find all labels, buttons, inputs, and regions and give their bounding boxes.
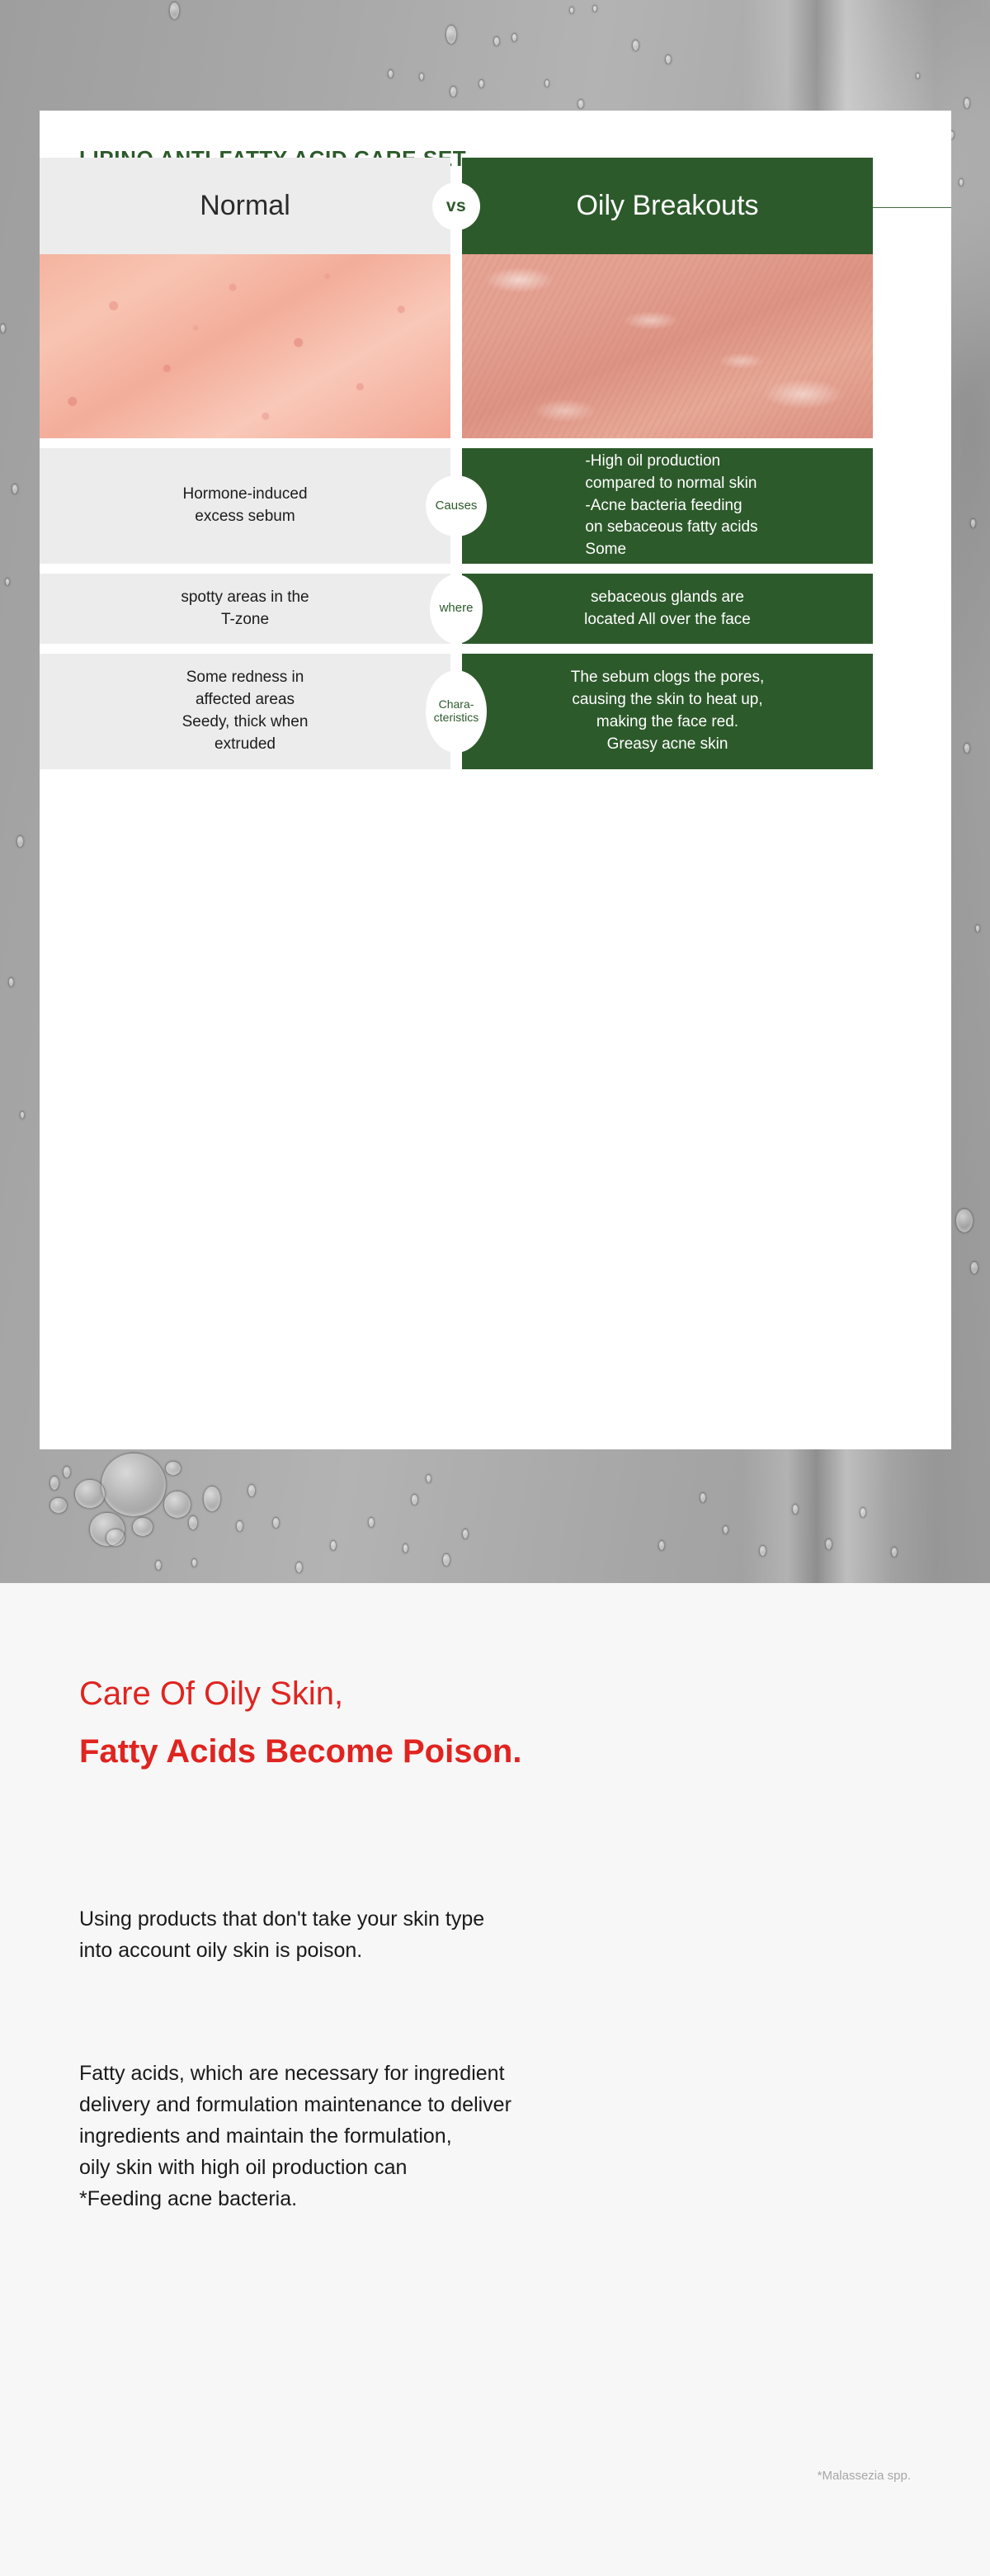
bubble-decor [132,1517,153,1537]
bubble-decor [592,5,597,12]
cell-text: spotty areas in the T-zone [163,587,327,631]
bubble-decor [16,835,24,848]
bubble-decor [20,1111,25,1119]
cell-text: The sebum clogs the pores, causing the s… [553,667,782,756]
bubble-decor [792,1504,799,1515]
bubble-decor [450,86,457,97]
bubble-decor [445,25,457,45]
bubble-decor [203,1486,221,1512]
bubble-decor [419,73,424,81]
cell-oily-characteristics: The sebum clogs the pores, causing the s… [462,654,873,769]
table-row: Some redness in affected areas Seedy, th… [40,654,873,769]
section-heading-line-2: Fatty Acids Become Poison. [79,1733,521,1770]
row-label-causes: Causes [426,475,487,536]
cell-text: sebaceous glands are located All over th… [566,587,769,631]
bubble-decor [723,1525,728,1534]
skin-photo-normal [40,254,450,438]
bubble-decor [247,1484,256,1497]
bubble-decor [101,1453,167,1517]
table-header-row: Normal Oily Breakouts vs [40,158,873,254]
bubble-decor [658,1540,665,1551]
body-paragraph-2: Fatty acids, which are necessary for ing… [79,2058,511,2214]
body-paragraph-1: Using products that don't take your skin… [79,1903,484,1966]
bubble-decor [163,1491,191,1519]
cell-text: Some redness in affected areas Seedy, th… [164,667,327,756]
bubble-decor [544,79,549,87]
skin-photo-oily [462,254,873,438]
footnote-text: *Malassezia spp. [818,2469,911,2483]
bubble-decor [959,178,964,187]
row-label-where: where [430,574,483,644]
bubble-decor [0,324,6,333]
product-detail-page: LIPINO ANTI-FATTY ACID CARE SET Normal O… [0,0,990,2576]
bubble-decor [891,1547,898,1557]
cell-normal-characteristics: Some redness in affected areas Seedy, th… [40,654,450,769]
cell-oily-where: sebaceous glands are located All over th… [462,574,873,644]
header-cell-oily: Oily Breakouts [462,158,873,254]
bubble-decor [955,1208,973,1233]
bubble-decor [964,97,970,109]
bubble-decor [569,7,574,14]
bubble-decor [191,1558,197,1567]
bubble-decor [106,1529,125,1547]
section-heading-line-1: Care Of Oily Skin, [79,1676,343,1713]
bubble-decor [860,1507,866,1518]
bubble-decor [411,1494,418,1505]
bubble-decor [272,1517,280,1529]
bubble-decor [964,743,970,754]
bubble-decor [462,1529,469,1539]
bubble-decor [665,54,672,64]
bubble-decor [759,1545,766,1557]
cell-oily-causes: -High oil production compared to normal … [462,448,873,564]
bubble-decor [63,1466,71,1478]
bubble-decor [368,1517,375,1528]
bubble-decor [493,36,500,46]
vs-badge: vs [432,182,480,230]
bubble-decor [188,1515,198,1530]
cell-text: -High oil production compared to normal … [559,451,775,562]
bubble-decor [426,1474,431,1483]
bubble-decor [5,578,10,586]
bubble-decor [49,1497,68,1514]
table-photo-row [40,254,873,438]
bubble-decor [295,1562,303,1573]
bubble-decor [74,1479,106,1509]
bubble-decor [970,1261,978,1274]
bubble-decor [236,1520,243,1532]
bubble-decor [8,977,14,987]
bubble-decor [388,69,394,78]
bottom-copy-section: Care Of Oily Skin, Fatty Acids Become Po… [0,1583,990,2576]
bubble-decor [403,1543,408,1553]
bubble-decor [330,1540,337,1551]
bubble-decor [49,1476,59,1491]
row-label-characteristics: Chara- cteristics [426,670,487,753]
bubble-decor [577,99,584,109]
bubble-decor [700,1492,706,1503]
bubble-decor [975,924,980,933]
bubble-decor [632,40,639,51]
header-cell-normal: Normal [40,158,450,254]
cell-text: Hormone-induced excess sebum [164,484,325,528]
table-row: Hormone-induced excess sebum -High oil p… [40,448,873,564]
bubble-decor [916,73,920,79]
bubble-decor [12,484,18,494]
bubble-decor [165,1461,181,1476]
cell-normal-where: spotty areas in the T-zone [40,574,450,644]
bubble-decor [442,1553,450,1567]
bubble-decor [970,518,976,528]
table-row: spotty areas in the T-zone sebaceous gla… [40,574,873,644]
comparison-table: Normal Oily Breakouts vs Hormone-induced… [40,158,873,769]
bubble-decor [155,1560,162,1571]
bubble-decor [169,2,180,20]
cell-normal-causes: Hormone-induced excess sebum [40,448,450,564]
bubble-decor [511,33,517,42]
bubble-decor [825,1539,832,1550]
bubble-decor [478,79,484,88]
